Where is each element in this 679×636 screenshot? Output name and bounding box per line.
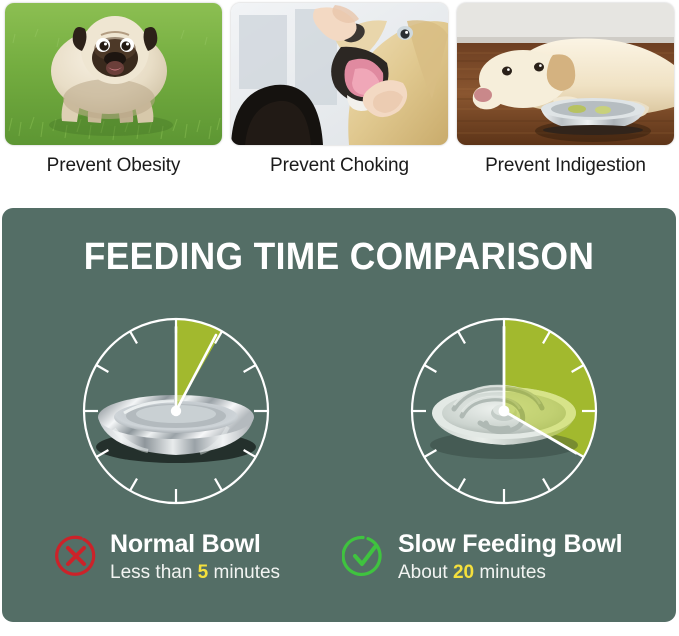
result-text-group: Normal Bowl Less than 5 minutes	[110, 530, 280, 585]
red-x-circle-icon	[54, 534, 98, 578]
benefits-row: Prevent Obesity	[0, 0, 679, 196]
benefit-tile-prevent-choking: Prevent Choking	[231, 3, 448, 145]
overweight-pug-on-grass-photo	[5, 3, 222, 145]
result-sub-value: 5	[198, 562, 209, 583]
person-checking-golden-retriever-mouth-photo	[231, 3, 448, 145]
result-sub-value: 20	[453, 562, 474, 583]
benefit-caption: Prevent Choking	[211, 155, 468, 177]
result-slow-feeding-bowl: Slow Feeding Bowl About 20 minutes	[342, 530, 662, 600]
result-normal-bowl: Normal Bowl Less than 5 minutes	[54, 530, 314, 600]
result-title: Normal Bowl	[110, 530, 280, 559]
benefit-caption: Prevent Obesity	[0, 155, 242, 177]
result-subtitle: About 20 minutes	[398, 560, 622, 585]
result-title: Slow Feeding Bowl	[398, 530, 622, 559]
benefit-tile-prevent-indigestion: Prevent Indigestion	[457, 3, 674, 145]
page-title: FEEDING TIME COMPARISON	[26, 236, 653, 279]
slow-feeding-bowl-dial	[406, 313, 602, 509]
result-sub-suffix: minutes	[474, 562, 546, 583]
feeding-time-comparison-panel: FEEDING TIME COMPARISON	[2, 208, 676, 622]
green-check-circle-icon	[342, 534, 386, 578]
benefit-tile-prevent-obesity: Prevent Obesity	[5, 3, 222, 145]
normal-bowl-dial	[78, 313, 274, 509]
result-sub-suffix: minutes	[208, 562, 280, 583]
result-sub-prefix: About	[398, 562, 453, 583]
benefit-caption: Prevent Indigestion	[437, 155, 679, 177]
result-sub-prefix: Less than	[110, 562, 198, 583]
result-subtitle: Less than 5 minutes	[110, 560, 280, 585]
labrador-lying-beside-steel-bowl-photo	[457, 3, 674, 145]
result-text-group: Slow Feeding Bowl About 20 minutes	[398, 530, 622, 585]
